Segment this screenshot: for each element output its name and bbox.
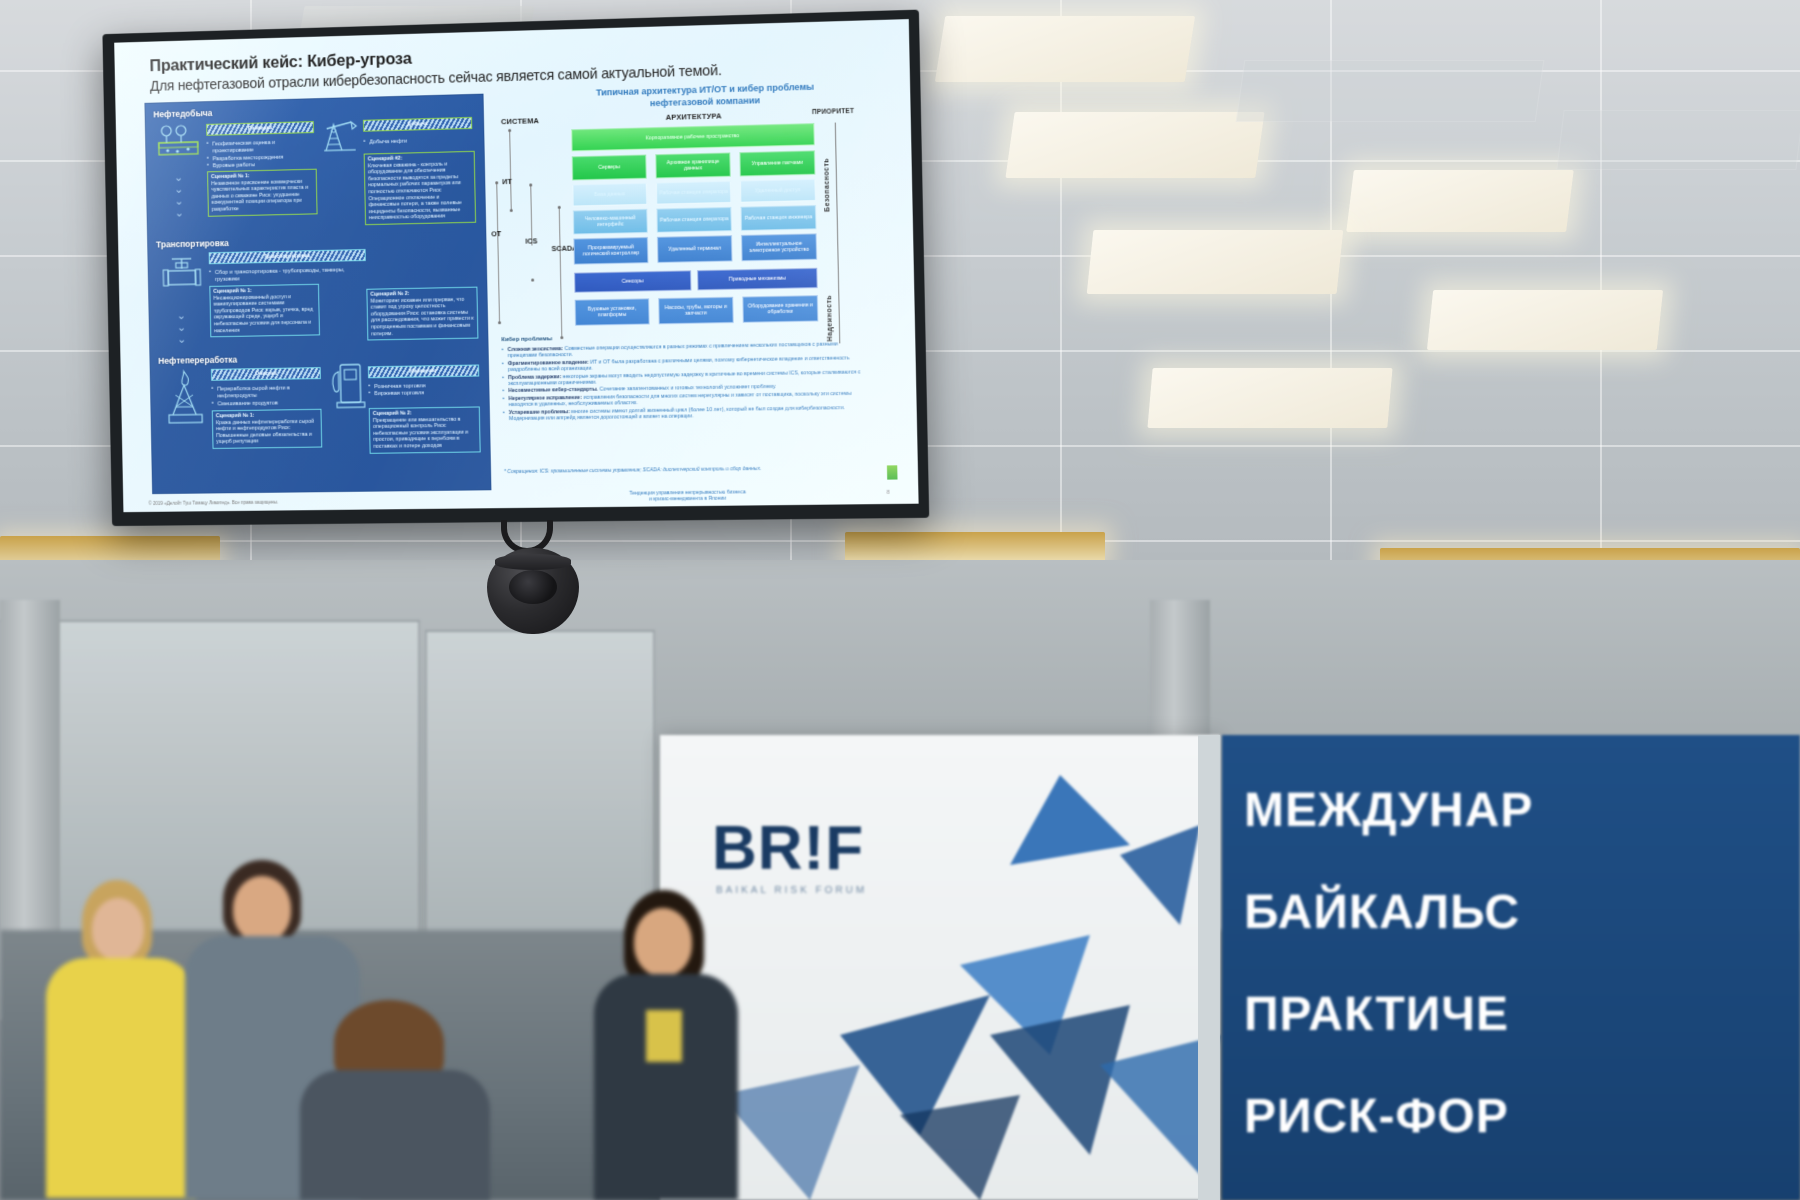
arch-cell: Удаленный терминал [657, 235, 732, 263]
scenario-box: Сценарий № 1: Кража данных нефтеперерабо… [212, 409, 322, 449]
axis-dot [531, 279, 534, 282]
ceiling-light [1147, 368, 1392, 428]
ceiling-tile [1556, 110, 1800, 170]
torso [594, 974, 738, 1200]
axis-dot [510, 209, 513, 212]
cyber-abbreviation-note: * Сокращения: ICS: промышленные системы … [504, 465, 869, 476]
axis-dot [529, 183, 532, 186]
head [233, 876, 291, 942]
arch-cell-actuators: Приводные механизмы [697, 268, 818, 291]
audience-member [590, 890, 740, 1200]
scenario-box: Сценарий № 1: Несанкционированный доступ… [209, 284, 320, 338]
priority-label-reliability: Надежность [825, 256, 834, 341]
fuel-pump-icon [326, 358, 366, 412]
chevron-down-icon: ⌄ [177, 312, 186, 321]
arch-row-corporate: Корпоративное рабочее пространство [571, 123, 815, 151]
arch-cell: Насосы, трубы, моторы и запчасти [658, 297, 734, 325]
forum-banner-line: РИСК-ФОР [1244, 1089, 1509, 1144]
column-label-priority: ПРИОРИТЕТ [812, 108, 854, 116]
camera-ring [495, 554, 571, 570]
stage-bullets-production: Добыча нефти [363, 137, 470, 147]
ceiling-light [1346, 170, 1574, 232]
footer-copyright: © 2019 «Делойт Туш Томацу Лимитед». Все … [148, 500, 278, 506]
brif-banner: BR!F BAIKAL RISK FORUM [660, 735, 1220, 1200]
arch-cell: Архивное хранилище данных [655, 153, 730, 179]
axis-it [509, 131, 512, 211]
priority-axis [835, 123, 841, 344]
arch-cell: Буровые установки, платформы [575, 298, 650, 325]
scenario-box: Сценарий № 2: Прекращение или вмешательс… [369, 406, 481, 453]
forum-banner-line: БАЙКАЛЬС [1244, 885, 1520, 940]
stage-bullets-marketing: Розничная торговля Биржевая торговля [368, 382, 479, 398]
arch-cell: Программируемый логический контроллер [573, 237, 648, 265]
section-heading-upstream: Нефтедобыча [153, 108, 212, 119]
axis-ot [496, 183, 500, 323]
torso [300, 1070, 490, 1200]
scenario-box: Сценарий № 1: Незаконное присвоение комм… [207, 169, 318, 217]
ceiling-light [1087, 230, 1344, 294]
cyber-problems-list: Сложная экосистема: Совместные операции … [502, 341, 868, 424]
chevron-down-icon: ⌄ [174, 186, 183, 195]
pumpjack-icon [321, 114, 361, 155]
axis-tag-it: ИТ [502, 177, 512, 186]
axis-dot [495, 181, 498, 184]
value-chain-panel: Нефтедобыча [144, 94, 491, 494]
priority-label-security: Безопасность [822, 123, 831, 212]
section-heading-refining: Нефтепереработка [158, 355, 237, 366]
stage-ribbon-marketing: Маркетинг [368, 365, 479, 379]
ceiling-light [1005, 112, 1264, 178]
chevron-down-icon: ⌄ [174, 198, 183, 207]
forum-banner-line: МЕЖДУНАР [1244, 783, 1533, 838]
refinery-flare-icon [164, 367, 208, 425]
head [634, 908, 692, 976]
wall-mounted-display[interactable]: Практический кейс: Кибер-угроза Для нефт… [100, 22, 930, 534]
presentation-slide: Практический кейс: Кибер-угроза Для нефт… [114, 19, 918, 512]
footer-center: Тенденция управления непрерывностью бизн… [576, 489, 799, 504]
audience-member [40, 880, 200, 1200]
torso [46, 958, 196, 1198]
banner-divider [1198, 735, 1220, 1200]
audience-member [300, 1000, 490, 1200]
forum-banner: МЕЖДУНАР БАЙКАЛЬС ПРАКТИЧЕ РИСК-ФОР [1222, 735, 1800, 1200]
brif-graphic [660, 735, 1220, 1200]
chevron-down-icon: ⌄ [175, 209, 184, 218]
column-label-architecture: АРХИТЕКТУРА [666, 111, 722, 122]
cyber-problems-heading: Кибер проблемы [501, 336, 552, 343]
head [92, 898, 144, 960]
chevron-down-icon: ⌄ [177, 336, 186, 345]
arch-cell: Рабочая станция оператора [656, 181, 731, 205]
pipeline-valve-icon [162, 252, 206, 296]
stage-bullets-exploration: Геофизическая оценка и проектирование Ра… [206, 139, 314, 171]
stage-bullets-transport: Сбор и транспортировка - трубопроводы, т… [209, 267, 366, 285]
scenario-box: Сценарий #2: Ключевая скважина - контрол… [364, 151, 476, 225]
arch-cell: Рабочая станция инженера [741, 205, 817, 231]
section-heading-transport: Транспортировка [156, 238, 229, 249]
ceiling-camera [487, 520, 567, 580]
footer-page-number: 8 [887, 490, 890, 496]
stage-ribbon-transport: Транспортировка [209, 249, 366, 264]
ceiling-tile [1236, 60, 1545, 122]
axis-scada [559, 208, 563, 338]
axis-dot [498, 321, 501, 324]
lanyard [646, 1010, 682, 1062]
stage-ribbon-production: Добыча [363, 117, 472, 132]
arch-cell: Человеко-машинный интерфейс [573, 209, 648, 235]
arch-cell: Рабочая станция оператора [656, 207, 731, 233]
arch-cell: База данных [572, 183, 647, 207]
axis-dot [508, 129, 511, 132]
arch-cell: Оборудование хранения и обработки [742, 295, 818, 323]
axis-tag-ics: ICS [525, 236, 537, 245]
arch-cell: Серверы [572, 155, 647, 181]
arch-cell-sensors: Сенсоры [574, 270, 691, 292]
chevron-down-icon: ⌄ [174, 174, 183, 183]
arch-cell: Управление патчами [739, 150, 815, 176]
display-bezel: Практический кейс: Кибер-угроза Для нефт… [102, 10, 929, 526]
diagram-title: Типичная архитектура ИТ/ОТ и кибер пробл… [538, 79, 873, 112]
stage-ribbon-refining: Очистка [211, 367, 321, 381]
axis-dot [558, 206, 561, 209]
arch-cell: Интеллектуальное электронное устройство [741, 233, 817, 261]
forum-banner-line: ПРАКТИЧЕ [1244, 987, 1509, 1042]
axis-dot [560, 336, 563, 339]
ceiling-light [1427, 290, 1663, 350]
column-label-system: СИСТЕМА [501, 116, 539, 126]
arch-cell: Удаленный доступ [740, 179, 816, 203]
camera-lens [509, 570, 557, 604]
stage-ribbon-exploration: Разведка [206, 121, 314, 136]
scenario-box: Сценарий № 2: Мониторинг искажен или пре… [366, 287, 478, 341]
seismic-survey-icon [156, 122, 202, 165]
stage-bullets-refining: Переработка сырой нефти в нефтепродукты … [211, 385, 321, 409]
chevron-down-icon: ⌄ [177, 324, 186, 333]
conference-room: Практический кейс: Кибер-угроза Для нефт… [0, 0, 1800, 1200]
axis-tag-ot: OT [491, 229, 501, 238]
brand-logo-mark [887, 465, 898, 479]
ceiling-light [935, 16, 1195, 82]
